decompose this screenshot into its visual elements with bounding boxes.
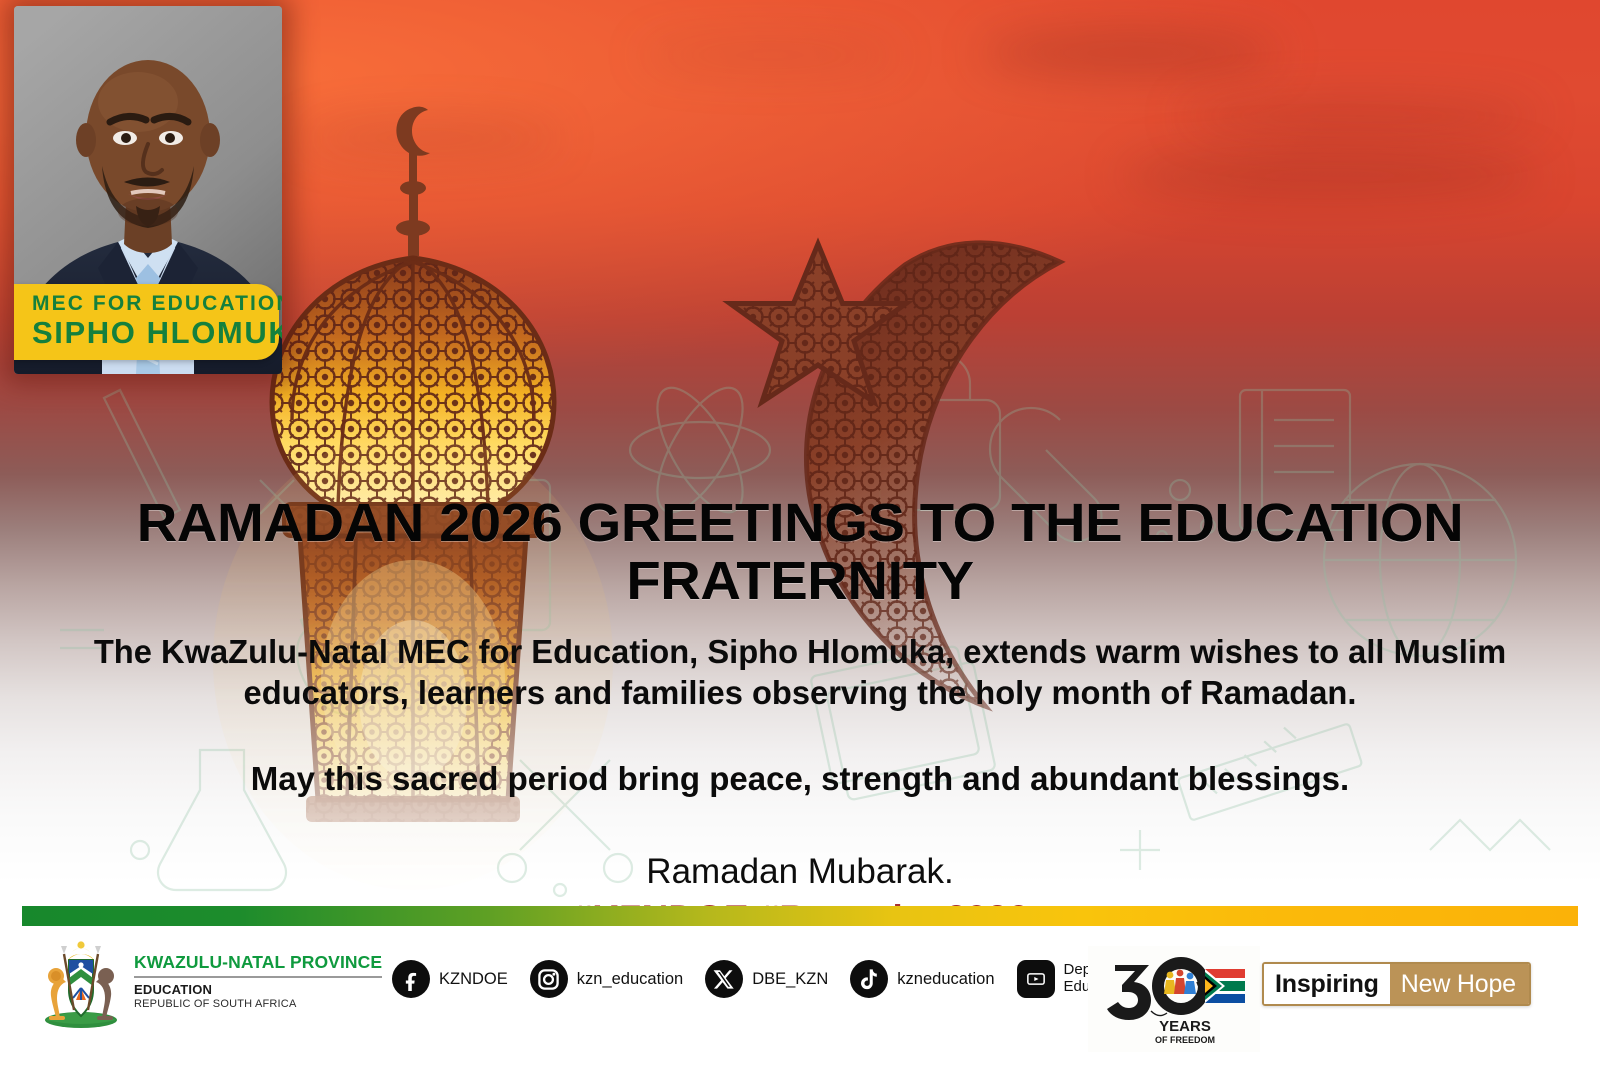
social-facebook[interactable]: KZNDOE <box>392 960 508 998</box>
x-twitter-handle: DBE_KZN <box>752 970 828 988</box>
facebook-icon[interactable] <box>392 960 430 998</box>
cloud-smudge <box>300 120 560 156</box>
mec-role-label: MEC FOR EDUCATION <box>32 293 279 315</box>
cloud-smudge <box>980 30 1280 76</box>
ramadan-greeting-poster: MEC FOR EDUCATION SIPHO HLOMUKA RAMADAN … <box>0 0 1600 1066</box>
closing-greeting: Ramadan Mubarak. <box>0 851 1600 893</box>
poster-content: RAMADAN 2026 GREETINGS TO THE EDUCATION … <box>0 495 1600 942</box>
new-hope-word: New Hope <box>1390 964 1529 1004</box>
facebook-handle: KZNDOE <box>439 970 508 988</box>
kzn-country-label: REPUBLIC OF SOUTH AFRICA <box>134 998 382 1010</box>
instagram-icon[interactable] <box>530 960 568 998</box>
kzn-provincial-logo: KWAZULU-NATAL PROVINCE EDUCATION REPUBLI… <box>38 934 382 1028</box>
mec-name-badge: MEC FOR EDUCATION SIPHO HLOMUKA <box>14 284 279 360</box>
thirty-years-of-freedom-logo: YEARS OF FREEDOM <box>1088 946 1260 1052</box>
youtube-icon[interactable] <box>1017 960 1055 998</box>
years-word: YEARS <box>1159 1018 1211 1035</box>
mec-photo-card: MEC FOR EDUCATION SIPHO HLOMUKA <box>14 6 282 374</box>
cloud-smudge <box>1180 96 1540 136</box>
cloud-smudge <box>1120 150 1540 202</box>
paragraph-one: The KwaZulu-Natal MEC for Education, Sip… <box>8 631 1592 714</box>
gradient-divider-bar <box>22 906 1578 926</box>
tiktok-icon[interactable] <box>850 960 888 998</box>
footer: KWAZULU-NATAL PROVINCE EDUCATION REPUBLI… <box>0 926 1600 1066</box>
tiktok-handle: kzneducation <box>897 970 994 988</box>
mec-person-name: SIPHO HLOMUKA <box>32 317 279 350</box>
of-freedom-word: OF FREEDOM <box>1155 1035 1215 1045</box>
page-title: RAMADAN 2026 GREETINGS TO THE EDUCATION … <box>0 495 1600 611</box>
paragraph-two: May this sacred period bring peace, stre… <box>0 758 1600 800</box>
kzn-coat-of-arms-icon <box>38 934 124 1028</box>
kzn-department-label: EDUCATION <box>134 982 382 997</box>
social-media-handles: KZNDOE kzn_education DBE_KZN <box>392 960 1164 998</box>
inspiring-new-hope-badge: Inspiring New Hope <box>1262 962 1531 1006</box>
kzn-province-label: KWAZULU-NATAL PROVINCE <box>134 952 382 978</box>
inspiring-word: Inspiring <box>1264 964 1390 1004</box>
cloud-smudge <box>640 40 900 70</box>
instagram-handle: kzn_education <box>577 970 683 988</box>
x-twitter-icon[interactable] <box>705 960 743 998</box>
social-x-twitter[interactable]: DBE_KZN <box>705 960 828 998</box>
kzn-wordmark: KWAZULU-NATAL PROVINCE EDUCATION REPUBLI… <box>134 952 382 1010</box>
social-tiktok[interactable]: kzneducation <box>850 960 994 998</box>
social-instagram[interactable]: kzn_education <box>530 960 683 998</box>
thirty-years-badge-icon: YEARS OF FREEDOM <box>1093 951 1255 1047</box>
